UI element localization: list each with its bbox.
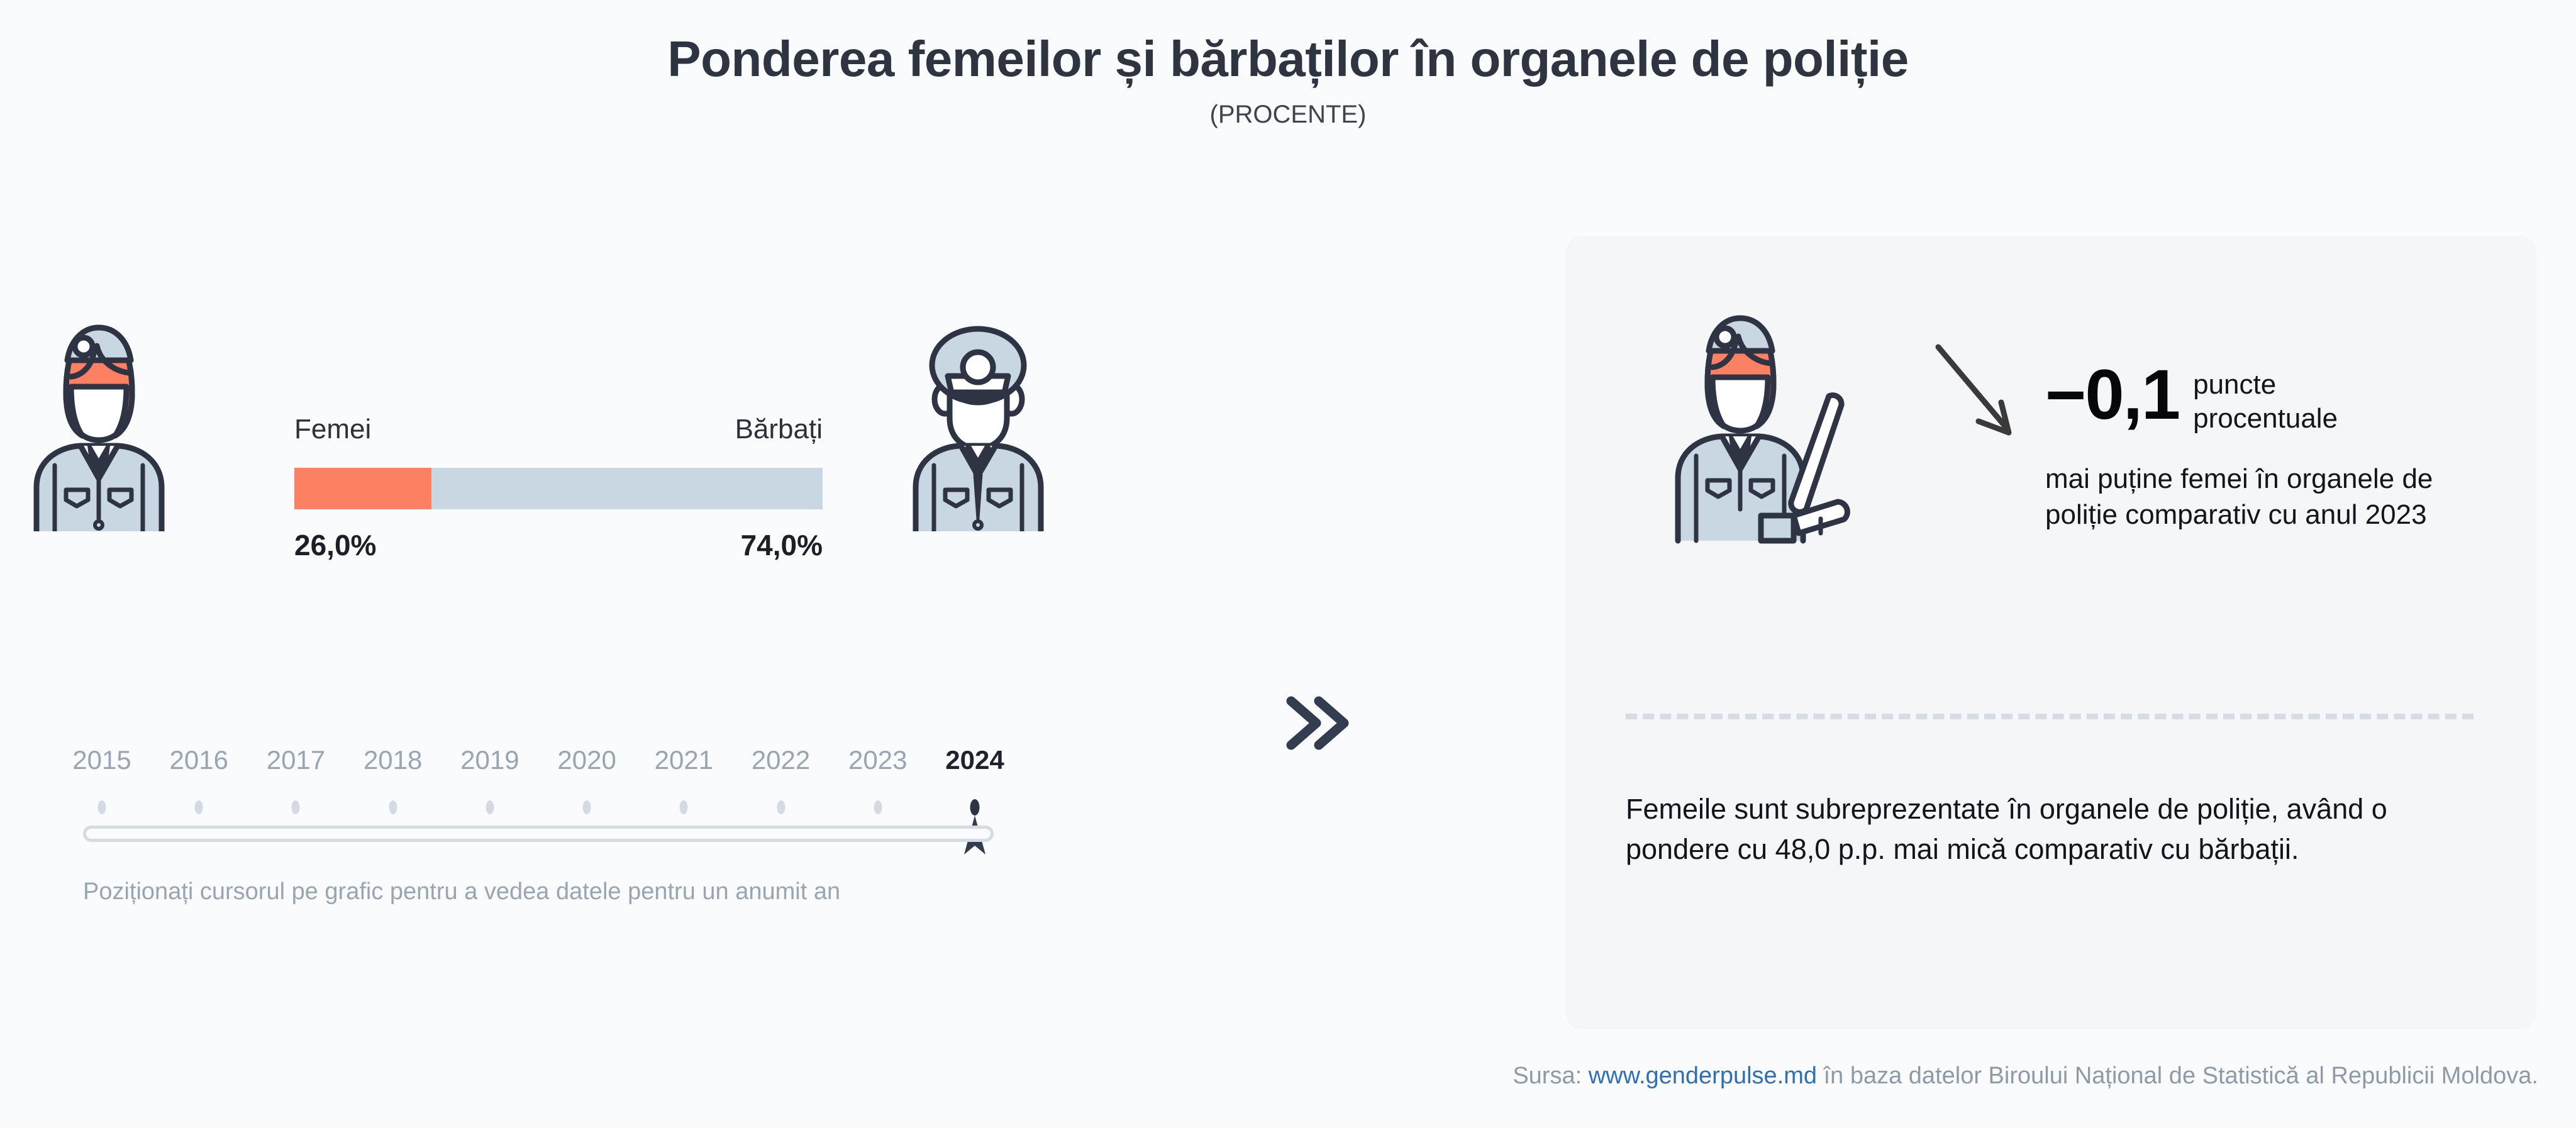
page-title: Ponderea femeilor și bărbaților în organ…: [0, 30, 2576, 88]
delta-description: mai puține femei în organele de poliție …: [2045, 461, 2485, 533]
gender-share-bar[interactable]: Femei Bărbați 26,0% 74,0%: [294, 414, 823, 566]
bar-segment-male[interactable]: [431, 468, 823, 509]
year-timeline-slider[interactable]: 2015201620172018201920202021202220232024…: [83, 745, 1039, 905]
delta-unit-line2: procentuale: [2193, 403, 2338, 434]
timeline-year-2016[interactable]: 2016: [170, 745, 228, 775]
bar-labels: Femei Bărbați: [294, 414, 823, 451]
female-police-officer-icon: [31, 311, 167, 534]
timeline-dot-2015[interactable]: [98, 800, 106, 814]
female-police-officer-with-baton-icon: [1673, 302, 1868, 556]
timeline-hint: Poziționați cursorul pe grafic pentru a …: [83, 878, 1039, 905]
timeline-year-2015[interactable]: 2015: [72, 745, 131, 775]
timeline-year-2024[interactable]: 2024: [945, 745, 1004, 775]
card-divider: [1626, 714, 2473, 719]
timeline-year-2023[interactable]: 2023: [848, 745, 907, 775]
timeline-dot-2019[interactable]: [486, 800, 494, 814]
page-subtitle: (PROCENTE): [0, 101, 2576, 129]
source-footer: Sursa: www.genderpulse.md în baza datelo…: [1513, 1063, 2538, 1090]
timeline-year-2017[interactable]: 2017: [267, 745, 325, 775]
male-value: 74,0%: [741, 528, 823, 562]
timeline-year-dots[interactable]: [83, 798, 1039, 819]
delta-unit: puncte procentuale: [2193, 368, 2338, 435]
delta-unit-line1: puncte: [2193, 369, 2276, 400]
delta-metric: −0,1 puncte procentuale: [2045, 362, 2338, 435]
source-suffix: în baza datelor Biroului Național de Sta…: [1817, 1063, 2538, 1089]
timeline-dot-2018[interactable]: [389, 800, 397, 814]
insight-card: −0,1 puncte procentuale mai puține femei…: [1566, 236, 2536, 1029]
timeline-track[interactable]: [83, 826, 994, 842]
bar-values: 26,0% 74,0%: [294, 528, 823, 566]
source-prefix: Sursa:: [1513, 1063, 1588, 1089]
male-label: Bărbați: [735, 414, 823, 445]
timeline-dot-2023[interactable]: [874, 800, 882, 814]
timeline-year-2021[interactable]: 2021: [655, 745, 713, 775]
bar-segment-female[interactable]: [294, 468, 431, 509]
timeline-year-2018[interactable]: 2018: [364, 745, 422, 775]
delta-value: −0,1: [2045, 362, 2179, 428]
source-link[interactable]: www.genderpulse.md: [1589, 1063, 1817, 1089]
timeline-year-2020[interactable]: 2020: [557, 745, 616, 775]
infographic-page: Ponderea femeilor și bărbaților în organ…: [0, 0, 2576, 1128]
timeline-dot-2016[interactable]: [195, 800, 203, 814]
female-label: Femei: [294, 414, 371, 445]
timeline-dot-2022[interactable]: [777, 800, 785, 814]
card-note: Femeile sunt subreprezentate în organele…: [1626, 789, 2456, 870]
timeline-year-labels[interactable]: 2015201620172018201920202021202220232024: [83, 745, 1039, 783]
male-police-officer-icon: [911, 311, 1046, 534]
timeline-dot-2024[interactable]: [970, 799, 980, 816]
timeline-dot-2017[interactable]: [292, 800, 300, 814]
timeline-dot-2020[interactable]: [583, 800, 591, 814]
timeline-dot-2021[interactable]: [680, 800, 688, 814]
double-chevron-right-icon: [1280, 688, 1355, 758]
female-value: 26,0%: [294, 528, 376, 562]
timeline-year-2022[interactable]: 2022: [752, 745, 810, 775]
bar-track[interactable]: [294, 468, 823, 509]
timeline-year-2019[interactable]: 2019: [460, 745, 519, 775]
arrow-down-right-icon: [1929, 340, 2030, 450]
